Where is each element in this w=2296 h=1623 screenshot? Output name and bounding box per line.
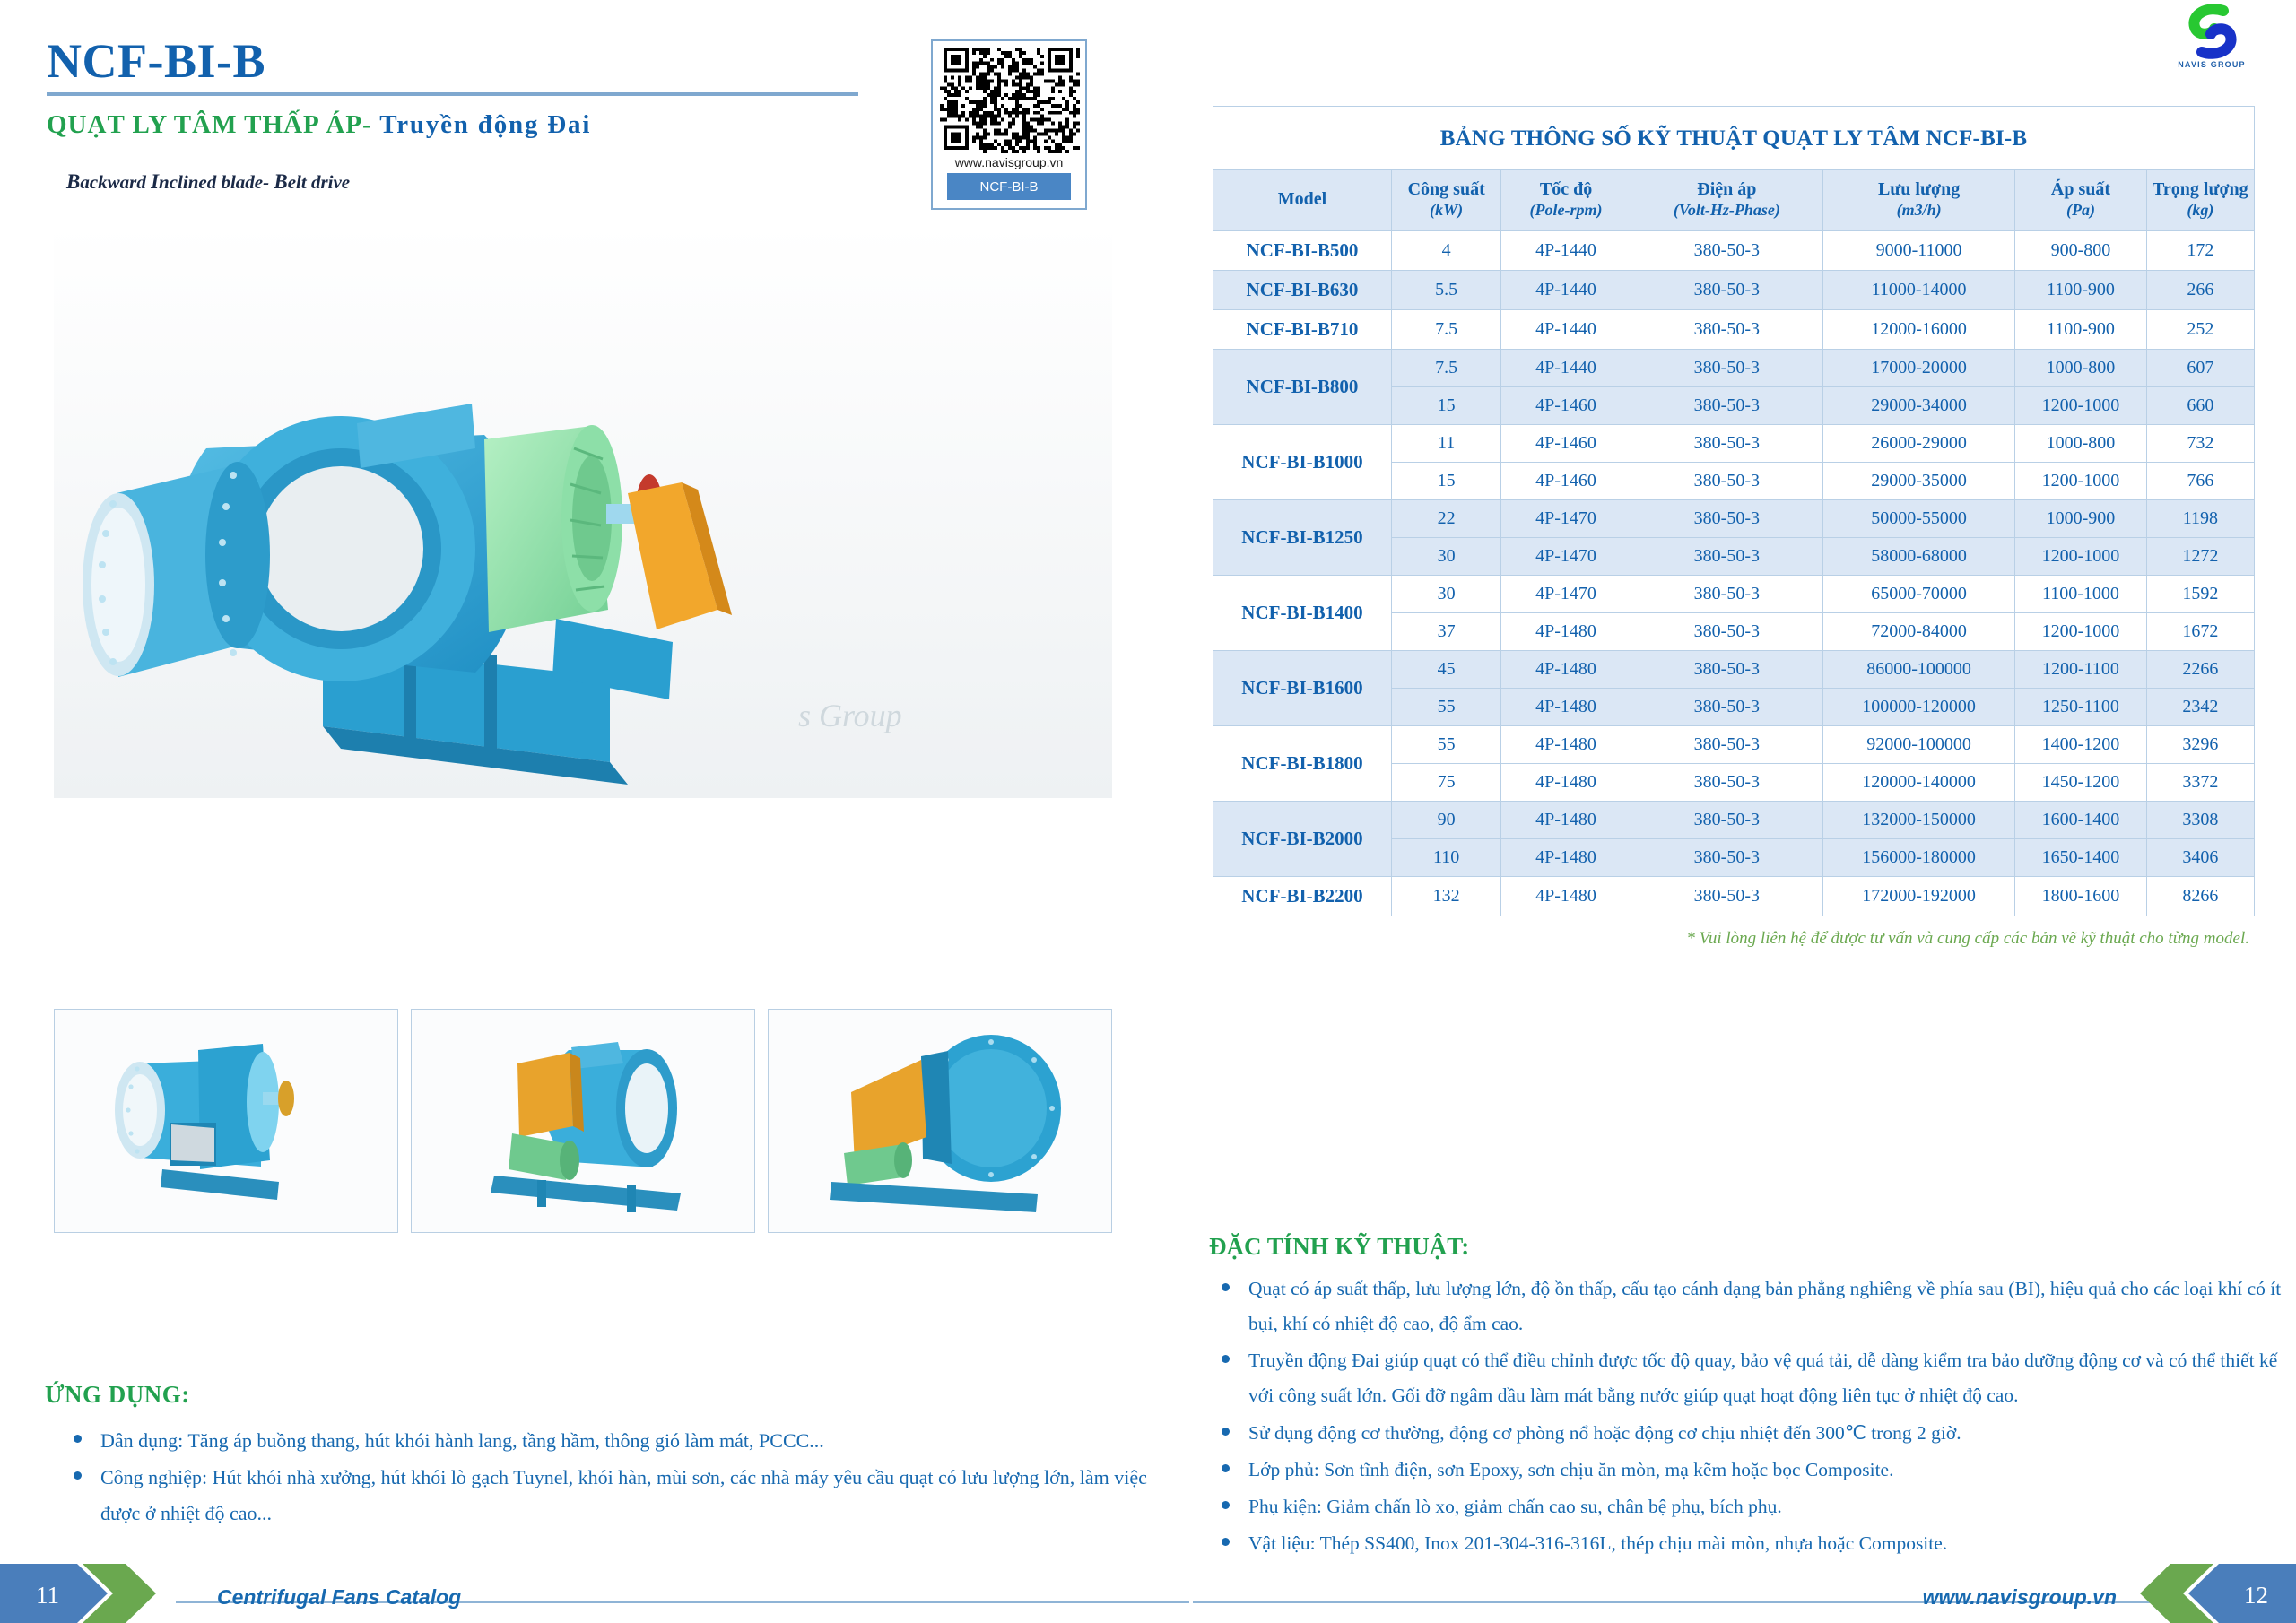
- cell-weight: 266: [2146, 270, 2254, 309]
- sub-en-p5: elt drive: [288, 171, 350, 193]
- cell-pressure: 1100-900: [2015, 309, 2146, 349]
- cell-pressure: 1200-1000: [2015, 462, 2146, 499]
- cell-weight: 3308: [2146, 801, 2254, 838]
- cell-power: 110: [1391, 838, 1500, 876]
- cell-power: 7.5: [1391, 349, 1500, 386]
- sub-en-p4: B: [274, 170, 287, 193]
- left-chevron-icon: [0, 1564, 179, 1623]
- technical-section: ĐẶC TÍNH KỸ THUẬT: Quạt có áp suất thấp,…: [1193, 1233, 2283, 1563]
- cell-voltage: 380-50-3: [1631, 763, 1822, 801]
- cell-power: 45: [1391, 650, 1500, 688]
- cell-flow: 65000-70000: [1822, 575, 2014, 612]
- cell-speed: 4P-1460: [1501, 462, 1631, 499]
- qr-model-tag: NCF-BI-B: [947, 173, 1071, 200]
- cell-model: NCF-BI-B500: [1213, 230, 1392, 270]
- list-item: Vật liệu: Thép SS400, Inox 201-304-316-3…: [1193, 1526, 2283, 1561]
- technical-text: Truyền động Đai giúp quạt có thể điều ch…: [1248, 1350, 2277, 1406]
- brand-name: NAVIS GROUP: [2149, 60, 2274, 69]
- right-chevron-icon: [2117, 1564, 2296, 1623]
- table-row: NCF-BI-B8007.54P-1440380-50-317000-20000…: [1213, 349, 2255, 386]
- column-header-unit: (Pole-rpm): [1505, 201, 1626, 220]
- cell-pressure: 1200-1000: [2015, 537, 2146, 575]
- sub-en-p0: B: [66, 170, 80, 193]
- cell-voltage: 380-50-3: [1631, 230, 1822, 270]
- cell-flow: 26000-29000: [1822, 424, 2014, 462]
- column-header-t-c: Tốc độ(Pole-rpm): [1501, 170, 1631, 231]
- cell-pressure: 1650-1400: [2015, 838, 2146, 876]
- application-text: Dân dụng: Tăng áp buồng thang, hút khói …: [100, 1429, 824, 1452]
- cell-flow: 132000-150000: [1822, 801, 2014, 838]
- cell-weight: 1592: [2146, 575, 2254, 612]
- bullet-icon: [1222, 1538, 1230, 1546]
- qr-url-label: www.navisgroup.vn: [940, 155, 1078, 169]
- cell-pressure: 1000-800: [2015, 349, 2146, 386]
- cell-flow: 58000-68000: [1822, 537, 2014, 575]
- cell-voltage: 380-50-3: [1631, 575, 1822, 612]
- page-number-left-badge: 11: [0, 1564, 179, 1623]
- bullet-icon: [1222, 1283, 1230, 1291]
- column-header-label: Tốc độ: [1540, 179, 1592, 199]
- cell-weight: 2342: [2146, 688, 2254, 725]
- technical-list: Quạt có áp suất thấp, lưu lượng lớn, độ …: [1193, 1271, 2283, 1561]
- sub-en-p3: nclined blade-: [159, 171, 274, 193]
- cell-power: 75: [1391, 763, 1500, 801]
- cell-pressure: 1200-1000: [2015, 386, 2146, 424]
- technical-text: Quạt có áp suất thấp, lưu lượng lớn, độ …: [1248, 1278, 2281, 1334]
- cell-flow: 86000-100000: [1822, 650, 2014, 688]
- cell-power: 4: [1391, 230, 1500, 270]
- bullet-icon: [1222, 1464, 1230, 1472]
- cell-flow: 92000-100000: [1822, 725, 2014, 763]
- technical-text: Sử dụng động cơ thường, động cơ phòng nổ…: [1248, 1422, 1961, 1444]
- cell-weight: 732: [2146, 424, 2254, 462]
- cell-speed: 4P-1440: [1501, 230, 1631, 270]
- cell-voltage: 380-50-3: [1631, 838, 1822, 876]
- thumbnail-2[interactable]: [411, 1009, 755, 1233]
- cell-voltage: 380-50-3: [1631, 612, 1822, 650]
- table-row: NCF-BI-B1250224P-1470380-50-350000-55000…: [1213, 499, 2255, 537]
- cell-flow: 100000-120000: [1822, 688, 2014, 725]
- cell-weight: 660: [2146, 386, 2254, 424]
- cell-voltage: 380-50-3: [1631, 801, 1822, 838]
- sub-en-p1: ackward: [80, 171, 151, 193]
- cell-model: NCF-BI-B1400: [1213, 575, 1392, 650]
- column-header-l-u-l-ng: Lưu lượng(m3/h): [1822, 170, 2014, 231]
- cell-weight: 1198: [2146, 499, 2254, 537]
- page-number-right-badge: 12: [2117, 1564, 2296, 1623]
- cell-voltage: 380-50-3: [1631, 462, 1822, 499]
- cell-power: 30: [1391, 537, 1500, 575]
- cell-voltage: 380-50-3: [1631, 499, 1822, 537]
- thumbnail-3[interactable]: [768, 1009, 1112, 1233]
- cell-flow: 120000-140000: [1822, 763, 2014, 801]
- column-header-label: Áp suất: [2051, 179, 2110, 199]
- cell-weight: 2266: [2146, 650, 2254, 688]
- thumbnail-strip: [54, 1009, 1112, 1233]
- cell-voltage: 380-50-3: [1631, 537, 1822, 575]
- technical-heading: ĐẶC TÍNH KỸ THUẬT:: [1209, 1233, 2283, 1261]
- cell-flow: 50000-55000: [1822, 499, 2014, 537]
- cell-voltage: 380-50-3: [1631, 309, 1822, 349]
- cell-pressure: 1800-1600: [2015, 876, 2146, 916]
- applications-list: Dân dụng: Tăng áp buồng thang, hút khói …: [45, 1423, 1175, 1532]
- cell-power: 37: [1391, 612, 1500, 650]
- applications-section: ỨNG DỤNG: Dân dụng: Tăng áp buồng thang,…: [45, 1381, 1175, 1532]
- applications-heading: ỨNG DỤNG:: [45, 1381, 1175, 1409]
- cell-flow: 17000-20000: [1822, 349, 2014, 386]
- cell-speed: 4P-1440: [1501, 349, 1631, 386]
- cell-weight: 1272: [2146, 537, 2254, 575]
- cell-model: NCF-BI-B1250: [1213, 499, 1392, 575]
- cell-pressure: 1100-1000: [2015, 575, 2146, 612]
- column-header-model: Model: [1213, 170, 1392, 231]
- cell-speed: 4P-1440: [1501, 309, 1631, 349]
- column-header-unit: (Pa): [2019, 201, 2142, 220]
- list-item: Phụ kiện: Giảm chấn lò xo, giảm chấn cao…: [1193, 1489, 2283, 1524]
- column-header-label: Lưu lượng: [1878, 179, 1960, 199]
- spec-table-title: BẢNG THÔNG SỐ KỸ THUẬT QUẠT LY TÂM NCF-B…: [1213, 107, 2255, 170]
- qr-code-icon: [940, 48, 1080, 153]
- cell-speed: 4P-1470: [1501, 575, 1631, 612]
- fan-rear-view-render: [769, 1010, 1112, 1233]
- cell-pressure: 1200-1100: [2015, 650, 2146, 688]
- table-row: NCF-BI-B50044P-1440380-50-39000-11000900…: [1213, 230, 2255, 270]
- cell-flow: 29000-34000: [1822, 386, 2014, 424]
- cell-voltage: 380-50-3: [1631, 270, 1822, 309]
- fan-3d-render: s Group: [54, 224, 1112, 798]
- column-header-tr-ng-l-ng: Trọng lượng(kg): [2146, 170, 2254, 231]
- cell-flow: 72000-84000: [1822, 612, 2014, 650]
- column-header-label: Model: [1278, 189, 1326, 209]
- cell-weight: 607: [2146, 349, 2254, 386]
- cell-power: 5.5: [1391, 270, 1500, 309]
- cell-voltage: 380-50-3: [1631, 688, 1822, 725]
- cell-pressure: 1000-800: [2015, 424, 2146, 462]
- column-header-label: Trọng lượng: [2152, 179, 2248, 199]
- column-header-c-ng-su-t: Công suất(kW): [1391, 170, 1500, 231]
- list-item: Quạt có áp suất thấp, lưu lượng lớn, độ …: [1193, 1271, 2283, 1341]
- cell-power: 90: [1391, 801, 1500, 838]
- cell-power: 55: [1391, 725, 1500, 763]
- hero-product-image: s Group: [54, 224, 1112, 798]
- thumbnail-1[interactable]: [54, 1009, 398, 1233]
- cell-power: 22: [1391, 499, 1500, 537]
- cell-speed: 4P-1480: [1501, 688, 1631, 725]
- fan-belt-drive-side-view-render: [412, 1010, 755, 1233]
- table-row: NCF-BI-B2000904P-1480380-50-3132000-1500…: [1213, 801, 2255, 838]
- cell-pressure: 1450-1200: [2015, 763, 2146, 801]
- table-row: NCF-BI-B6305.54P-1440380-50-311000-14000…: [1213, 270, 2255, 309]
- subtitle: QUẠT LY TÂM THẤP ÁP- Truyền động Đai: [47, 110, 890, 140]
- title-divider: [47, 92, 858, 96]
- cell-model: NCF-BI-B710: [1213, 309, 1392, 349]
- cell-voltage: 380-50-3: [1631, 650, 1822, 688]
- cell-power: 15: [1391, 386, 1500, 424]
- table-row: NCF-BI-B1000114P-1460380-50-326000-29000…: [1213, 424, 2255, 462]
- table-row: NCF-BI-B1400304P-1470380-50-365000-70000…: [1213, 575, 2255, 612]
- table-row: NCF-BI-B1800554P-1480380-50-392000-10000…: [1213, 725, 2255, 763]
- cell-weight: 766: [2146, 462, 2254, 499]
- cell-pressure: 1400-1200: [2015, 725, 2146, 763]
- technical-text: Lớp phủ: Sơn tĩnh điện, sơn Epoxy, sơn c…: [1248, 1459, 1893, 1480]
- column-header-unit: (kg): [2151, 201, 2250, 220]
- cell-weight: 252: [2146, 309, 2254, 349]
- cell-model: NCF-BI-B2000: [1213, 801, 1392, 876]
- cell-flow: 172000-192000: [1822, 876, 2014, 916]
- subtitle-vi-green: QUẠT LY TÂM THẤP ÁP-: [47, 110, 372, 139]
- column-header-i-n-p: Điện áp(Volt-Hz-Phase): [1631, 170, 1822, 231]
- cell-pressure: 1250-1100: [2015, 688, 2146, 725]
- navis-group-logo: NAVIS GROUP: [2149, 4, 2274, 81]
- cell-pressure: 1000-900: [2015, 499, 2146, 537]
- cell-speed: 4P-1470: [1501, 499, 1631, 537]
- svg-text:s Group: s Group: [798, 698, 902, 733]
- spec-table-header: ModelCông suất(kW)Tốc độ(Pole-rpm)Điện á…: [1213, 170, 2255, 231]
- cell-speed: 4P-1470: [1501, 537, 1631, 575]
- cell-voltage: 380-50-3: [1631, 725, 1822, 763]
- cell-voltage: 380-50-3: [1631, 386, 1822, 424]
- list-item: Lớp phủ: Sơn tĩnh điện, sơn Epoxy, sơn c…: [1193, 1453, 2283, 1488]
- cell-power: 132: [1391, 876, 1500, 916]
- list-item: Công nghiệp: Hút khói nhà xưởng, hút khó…: [45, 1460, 1175, 1532]
- table-row: NCF-BI-B1600454P-1480380-50-386000-10000…: [1213, 650, 2255, 688]
- cell-speed: 4P-1460: [1501, 424, 1631, 462]
- cell-power: 30: [1391, 575, 1500, 612]
- cell-speed: 4P-1480: [1501, 838, 1631, 876]
- application-text: Công nghiệp: Hút khói nhà xưởng, hút khó…: [100, 1466, 1147, 1525]
- technical-text: Vật liệu: Thép SS400, Inox 201-304-316-3…: [1248, 1532, 1947, 1554]
- list-item: Truyền động Đai giúp quạt có thể điều ch…: [1193, 1343, 2283, 1413]
- column-header-unit: (Volt-Hz-Phase): [1635, 201, 1819, 220]
- catalog-page: NAVIS GROUP NCF-BI-B QUẠT LY TÂM THẤP ÁP…: [0, 0, 2296, 1623]
- page-number-right: 12: [2244, 1582, 2268, 1610]
- cell-speed: 4P-1480: [1501, 725, 1631, 763]
- subtitle-vi-blue: Truyền động Đai: [372, 110, 591, 139]
- cell-flow: 11000-14000: [1822, 270, 2014, 309]
- sub-en-p2: I: [151, 170, 159, 193]
- cell-model: NCF-BI-B800: [1213, 349, 1392, 424]
- bullet-icon: [1222, 1428, 1230, 1436]
- cell-weight: 8266: [2146, 876, 2254, 916]
- column-header-unit: (kW): [1396, 201, 1497, 220]
- column-header-label: Điện áp: [1697, 179, 1756, 199]
- cell-speed: 4P-1480: [1501, 763, 1631, 801]
- cell-weight: 172: [2146, 230, 2254, 270]
- cell-pressure: 1600-1400: [2015, 801, 2146, 838]
- cell-weight: 3296: [2146, 725, 2254, 763]
- cell-speed: 4P-1440: [1501, 270, 1631, 309]
- cell-speed: 4P-1480: [1501, 612, 1631, 650]
- cell-voltage: 380-50-3: [1631, 349, 1822, 386]
- cell-weight: 3406: [2146, 838, 2254, 876]
- cell-power: 11: [1391, 424, 1500, 462]
- cell-speed: 4P-1480: [1501, 801, 1631, 838]
- page-title: NCF-BI-B: [47, 36, 890, 87]
- qr-card[interactable]: www.navisgroup.vn NCF-BI-B: [931, 39, 1087, 210]
- cell-model: NCF-BI-B1000: [1213, 424, 1392, 499]
- column-header-unit: (m3/h): [1827, 201, 2011, 220]
- column-header-label: Công suất: [1408, 179, 1485, 199]
- cell-voltage: 380-50-3: [1631, 876, 1822, 916]
- technical-text: Phụ kiện: Giảm chấn lò xo, giảm chấn cao…: [1248, 1496, 1782, 1517]
- footer-catalog-label: Centrifugal Fans Catalog: [217, 1585, 461, 1610]
- cell-flow: 156000-180000: [1822, 838, 2014, 876]
- cell-pressure: 1200-1000: [2015, 612, 2146, 650]
- list-item: Sử dụng động cơ thường, động cơ phòng nổ…: [1193, 1416, 2283, 1451]
- cell-model: NCF-BI-B1800: [1213, 725, 1392, 801]
- cell-flow: 12000-16000: [1822, 309, 2014, 349]
- bullet-icon: [74, 1471, 82, 1480]
- cell-speed: 4P-1480: [1501, 876, 1631, 916]
- cell-model: NCF-BI-B630: [1213, 270, 1392, 309]
- column-header-p-su-t: Áp suất(Pa): [2015, 170, 2146, 231]
- bullet-icon: [74, 1435, 82, 1443]
- swirl-icon: [2171, 4, 2252, 59]
- fan-front-view-render: [55, 1010, 398, 1233]
- spec-table-section: BẢNG THÔNG SỐ KỸ THUẬT QUẠT LY TÂM NCF-B…: [1213, 106, 2255, 949]
- bullet-icon: [1222, 1355, 1230, 1363]
- subtitle-english: Backward Inclined blade- Belt drive: [66, 170, 890, 194]
- cell-flow: 29000-35000: [1822, 462, 2014, 499]
- cell-pressure: 900-800: [2015, 230, 2146, 270]
- spec-table-note: * Vui lòng liên hệ để được tư vấn và cun…: [1213, 929, 2255, 949]
- table-row: NCF-BI-B7107.54P-1440380-50-312000-16000…: [1213, 309, 2255, 349]
- cell-power: 55: [1391, 688, 1500, 725]
- cell-power: 15: [1391, 462, 1500, 499]
- navis-swirl-logo-icon: [2171, 4, 2252, 59]
- spec-table: BẢNG THÔNG SỐ KỸ THUẬT QUẠT LY TÂM NCF-B…: [1213, 106, 2255, 916]
- cell-power: 7.5: [1391, 309, 1500, 349]
- footer-website: www.navisgroup.vn: [1923, 1585, 2117, 1610]
- cell-voltage: 380-50-3: [1631, 424, 1822, 462]
- cell-model: NCF-BI-B1600: [1213, 650, 1392, 725]
- page-number-left: 11: [36, 1582, 59, 1610]
- list-item: Dân dụng: Tăng áp buồng thang, hút khói …: [45, 1423, 1175, 1460]
- spec-table-body: NCF-BI-B50044P-1440380-50-39000-11000900…: [1213, 230, 2255, 916]
- cell-speed: 4P-1460: [1501, 386, 1631, 424]
- cell-weight: 3372: [2146, 763, 2254, 801]
- cell-pressure: 1100-900: [2015, 270, 2146, 309]
- cell-flow: 9000-11000: [1822, 230, 2014, 270]
- bullet-icon: [1222, 1501, 1230, 1509]
- table-row: NCF-BI-B22001324P-1480380-50-3172000-192…: [1213, 876, 2255, 916]
- cell-speed: 4P-1480: [1501, 650, 1631, 688]
- title-block: NCF-BI-B QUẠT LY TÂM THẤP ÁP- Truyền độn…: [47, 36, 890, 194]
- cell-model: NCF-BI-B2200: [1213, 876, 1392, 916]
- cell-weight: 1672: [2146, 612, 2254, 650]
